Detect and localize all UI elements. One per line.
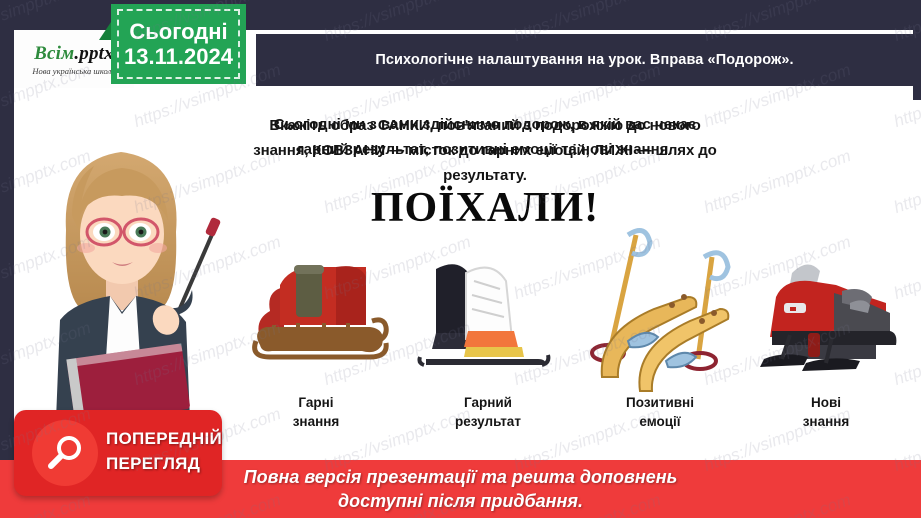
logo-subtitle: Нова українська школа bbox=[32, 66, 115, 76]
date-tag-date: 13.11.2024 bbox=[124, 44, 233, 69]
right-dark-strip bbox=[913, 0, 921, 100]
ice-skates-illustration bbox=[408, 225, 568, 393]
items-row: Гарні знання Гарний результат bbox=[236, 225, 916, 435]
item-label-line1: Нові bbox=[811, 395, 841, 410]
magnifier-icon bbox=[45, 433, 85, 473]
item-label-line2: знання bbox=[236, 412, 396, 431]
body-text-layer-b: Вкажіть образ САНКИ, пов'язаний з подоро… bbox=[250, 113, 720, 188]
footer-line-1: Повна версія презентації та решта доповн… bbox=[244, 465, 678, 489]
teacher-illustration bbox=[14, 120, 229, 430]
sleigh-illustration bbox=[236, 225, 396, 393]
item-label-line1: Гарні bbox=[298, 395, 333, 410]
item-label: Гарний результат bbox=[408, 393, 568, 431]
item-label-line2: емоції bbox=[580, 412, 740, 431]
slide-canvas: Всім.pptx Нова українська школа Сьогодні… bbox=[0, 0, 921, 518]
date-tag-label: Сьогодні bbox=[129, 19, 227, 44]
snowmobile-illustration bbox=[746, 225, 906, 393]
item-label-line2: результат bbox=[408, 412, 568, 431]
item-label: Гарні знання bbox=[236, 393, 396, 431]
shout-text: ПОЇХАЛИ! bbox=[250, 184, 720, 232]
header-title-bar: Психологічне налаштування на урок. Вправ… bbox=[256, 34, 913, 86]
preview-badge-line-1: ПОПЕРЕДНІЙ bbox=[106, 426, 218, 451]
item-label-line1: Позитивні bbox=[626, 395, 694, 410]
item-label: Позитивні емоції bbox=[580, 393, 740, 431]
item-snowmobile: Нові знання bbox=[746, 225, 906, 435]
page-title: Психологічне налаштування на урок. Вправ… bbox=[375, 52, 793, 68]
left-dark-strip bbox=[0, 0, 14, 518]
logo-wordmark: Всім.pptx bbox=[34, 43, 114, 65]
preview-badge-line-2: ПЕРЕГЛЯД bbox=[106, 451, 218, 476]
item-label-line2: знання bbox=[746, 412, 906, 431]
item-skates: Гарний результат bbox=[408, 225, 568, 435]
preview-badge-text: ПОПЕРЕДНІЙ ПЕРЕГЛЯД bbox=[106, 426, 218, 476]
logo-green-text: Всім bbox=[34, 43, 74, 64]
logo-black-text: .pptx bbox=[74, 43, 114, 64]
footer-line-2: доступні після придбання. bbox=[338, 489, 583, 513]
item-skis: Позитивні емоції bbox=[580, 201, 740, 411]
item-sleigh: Гарні знання bbox=[236, 225, 396, 435]
item-label-line1: Гарний bbox=[464, 395, 512, 410]
preview-badge[interactable]: ПОПЕРЕДНІЙ ПЕРЕГЛЯД bbox=[14, 410, 222, 496]
watermark-text: https://vsimpptx.com bbox=[891, 146, 921, 218]
item-label: Нові знання bbox=[746, 393, 906, 431]
date-tag: Сьогодні 13.11.2024 bbox=[111, 4, 246, 84]
preview-badge-circle bbox=[32, 420, 98, 486]
body-text-zone: Сьогодні ми з вами здійснимо подорож, в … bbox=[250, 112, 720, 232]
